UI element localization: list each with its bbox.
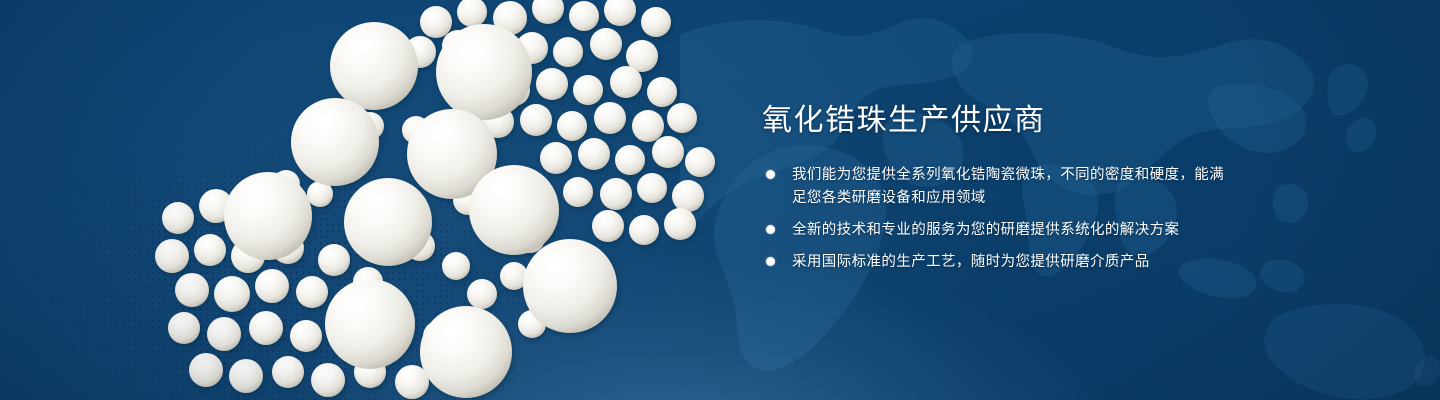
- bullet-text-1: 我们能为您提供全系列氧化锆陶瓷微珠，不同的密度和硬度，能满足您各类研磨设备和应用…: [792, 164, 1232, 210]
- bullet-item-3: 采用国际标准的生产工艺，随时为您提供研磨介质产品: [762, 251, 1232, 274]
- bullet-item-1: 我们能为您提供全系列氧化锆陶瓷微珠，不同的密度和硬度，能满足您各类研磨设备和应用…: [762, 164, 1232, 210]
- bullet-circle-icon: [766, 225, 775, 234]
- bullet-circle-icon: [766, 257, 775, 266]
- banner-copy: 氧化锆珠生产供应商 我们能为您提供全系列氧化锆陶瓷微珠，不同的密度和硬度，能满足…: [762, 104, 1232, 274]
- banner-headline: 氧化锆珠生产供应商: [762, 104, 1232, 138]
- bullet-text-2: 全新的技术和专业的服务为您的研磨提供系统化的解决方案: [792, 219, 1232, 242]
- zirconia-ceramic-beads: [120, 0, 760, 400]
- bullet-circle-icon: [766, 170, 775, 179]
- bullet-item-2: 全新的技术和专业的服务为您的研磨提供系统化的解决方案: [762, 219, 1232, 242]
- banner-bullet-list: 我们能为您提供全系列氧化锆陶瓷微珠，不同的密度和硬度，能满足您各类研磨设备和应用…: [762, 164, 1232, 274]
- hero-banner: 氧化锆珠生产供应商 我们能为您提供全系列氧化锆陶瓷微珠，不同的密度和硬度，能满足…: [0, 0, 1440, 400]
- bullet-text-3: 采用国际标准的生产工艺，随时为您提供研磨介质产品: [792, 251, 1232, 274]
